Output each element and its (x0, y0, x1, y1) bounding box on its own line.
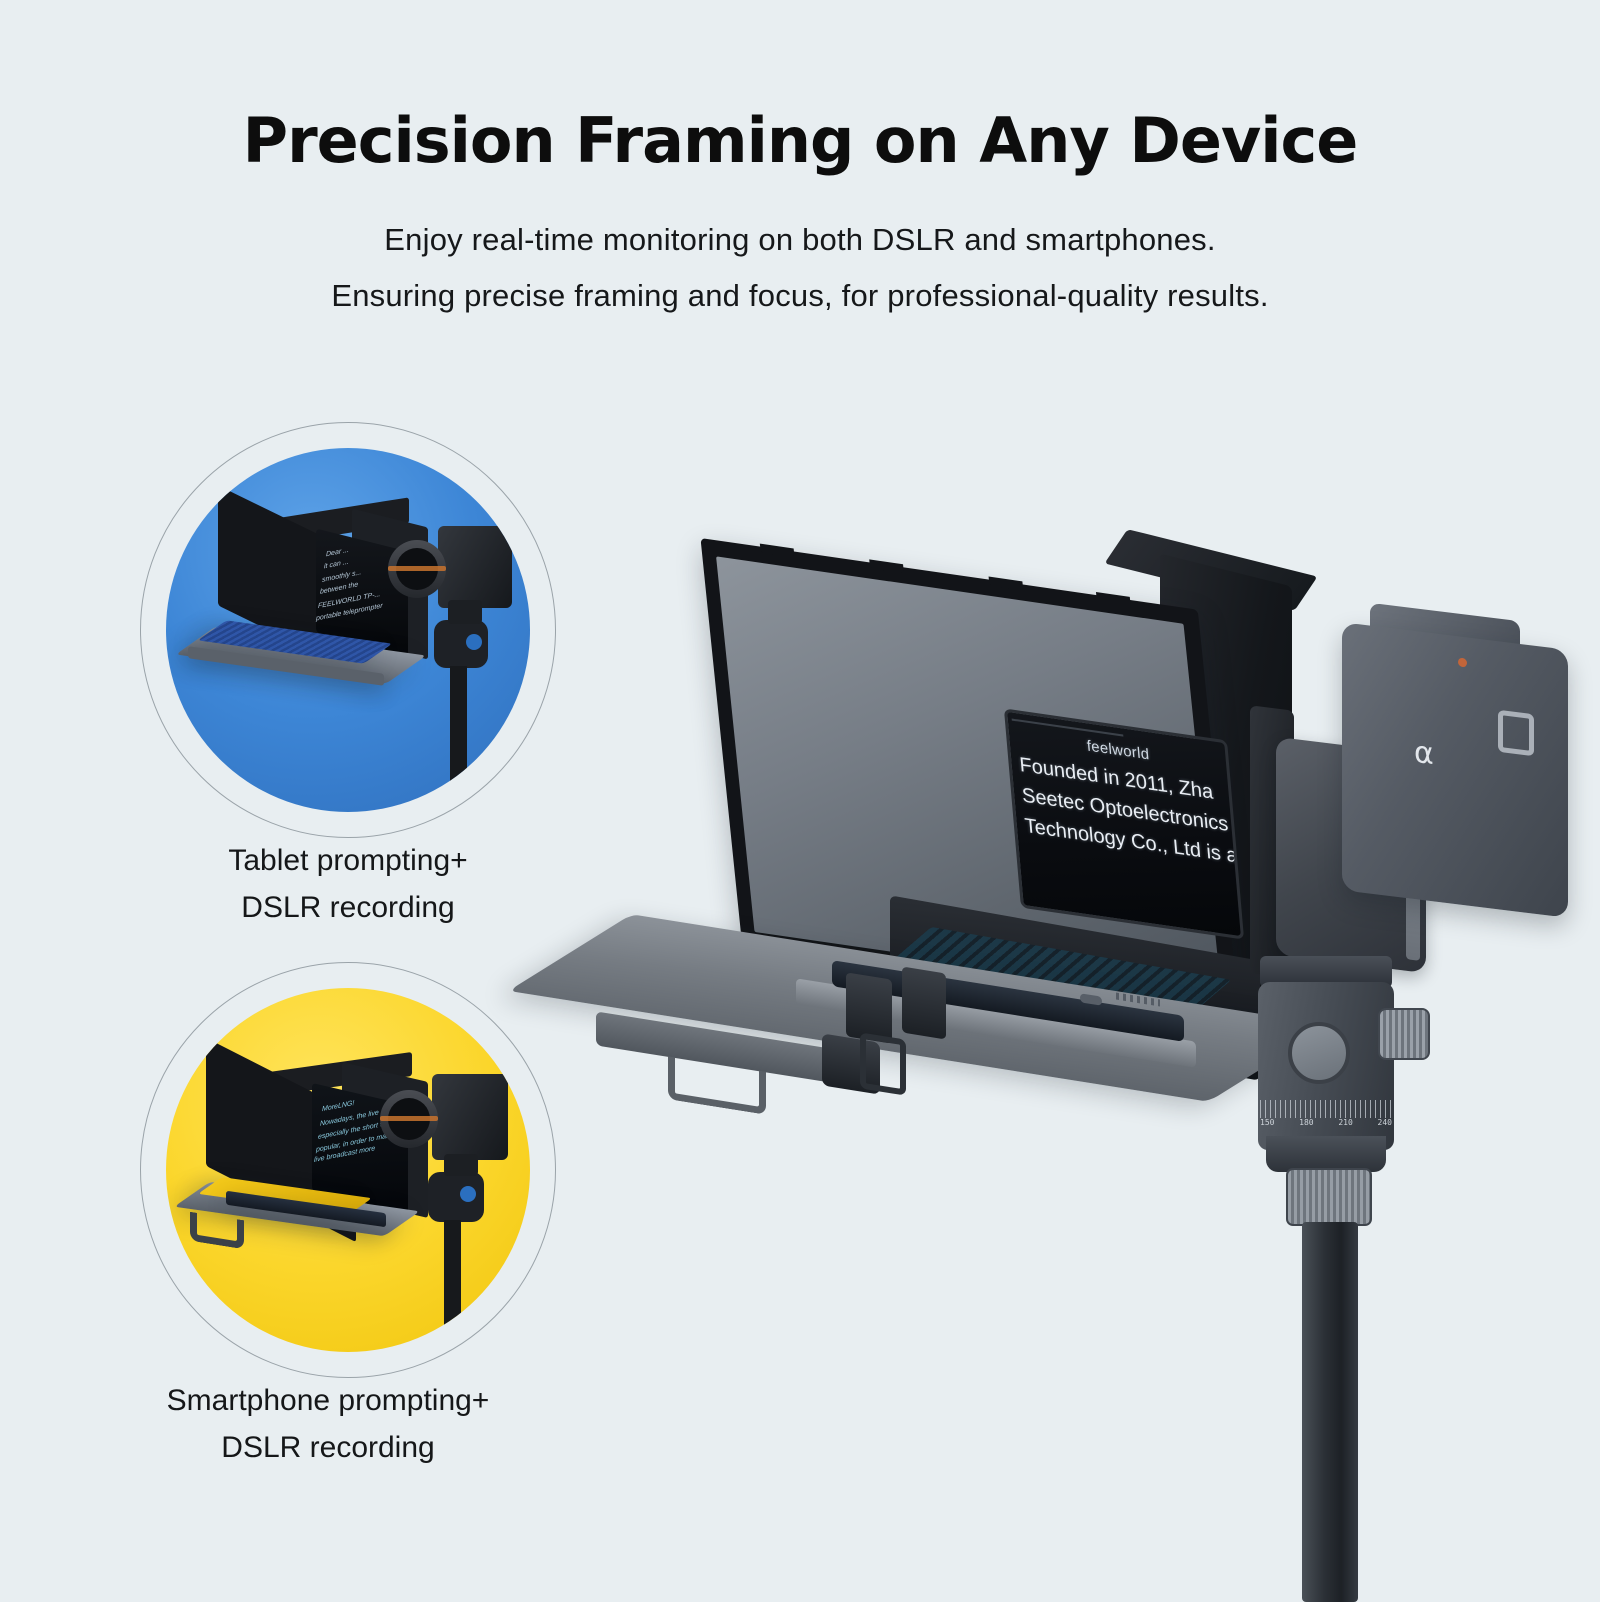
inset-photo-blue: Dear ... it can ... smoothly s... betwee… (166, 448, 530, 812)
clamp-arm (860, 1032, 906, 1095)
ball-head-base (1266, 1136, 1386, 1172)
ball-head-lock-knob (1378, 1008, 1430, 1060)
inset-photo-yellow: MoreLNG! Nowadays, the live especially t… (166, 988, 530, 1352)
mini-teleprompter-tablet: Dear ... it can ... smoothly s... betwee… (166, 448, 530, 812)
ball-head-degree-scale (1260, 1100, 1392, 1118)
inset-smartphone-caption-line2: DSLR recording (98, 1425, 558, 1472)
hero-product-teleprompter: feelworld Founded in 2011, Zha Seetec Op… (560, 540, 1600, 1600)
inset-smartphone-prompting: MoreLNG! Nowadays, the live especially t… (140, 962, 556, 1378)
inset-smartphone-caption: Smartphone prompting+ DSLR recording (98, 1378, 558, 1471)
inset-tablet-prompting: Dear ... it can ... smoothly s... betwee… (140, 422, 556, 838)
camera-record-indicator-icon (1458, 657, 1467, 667)
tripod-center-column (1302, 1222, 1358, 1602)
inset-smartphone-caption-line1: Smartphone prompting+ (98, 1378, 558, 1425)
page-title: Precision Framing on Any Device (0, 108, 1600, 173)
dslr-camera-body (1342, 622, 1568, 918)
scale-tick-150: 150 (1260, 1118, 1274, 1127)
camera-strap-lug-icon (1498, 710, 1534, 756)
subtitle-line-1: Enjoy real-time monitoring on both DSLR … (0, 222, 1600, 258)
ball-head-scale-labels: 150 180 210 240 (1260, 1118, 1392, 1127)
screen-brand-text: feelworld (1086, 737, 1150, 763)
subtitle-line-2: Ensuring precise framing and focus, for … (0, 278, 1600, 314)
inset-tablet-caption: Tablet prompting+ DSLR recording (118, 838, 578, 931)
ball-head-tension-dial (1288, 1022, 1350, 1084)
scale-tick-240: 240 (1378, 1118, 1392, 1127)
scale-tick-210: 210 (1338, 1118, 1352, 1127)
inset-tablet-caption-line1: Tablet prompting+ (118, 838, 578, 885)
tripod-twist-collar (1286, 1168, 1372, 1226)
camera-brand-mark: α (1414, 735, 1434, 772)
mini-teleprompter-smartphone: MoreLNG! Nowadays, the live especially t… (166, 988, 530, 1352)
inset-tablet-caption-line2: DSLR recording (118, 885, 578, 932)
tray-clamp-right (902, 967, 946, 1040)
scale-tick-180: 180 (1299, 1118, 1313, 1127)
teleprompter-screen: feelworld Founded in 2011, Zha Seetec Op… (1004, 708, 1244, 939)
marketing-banner: Precision Framing on Any Device Enjoy re… (0, 0, 1600, 1600)
